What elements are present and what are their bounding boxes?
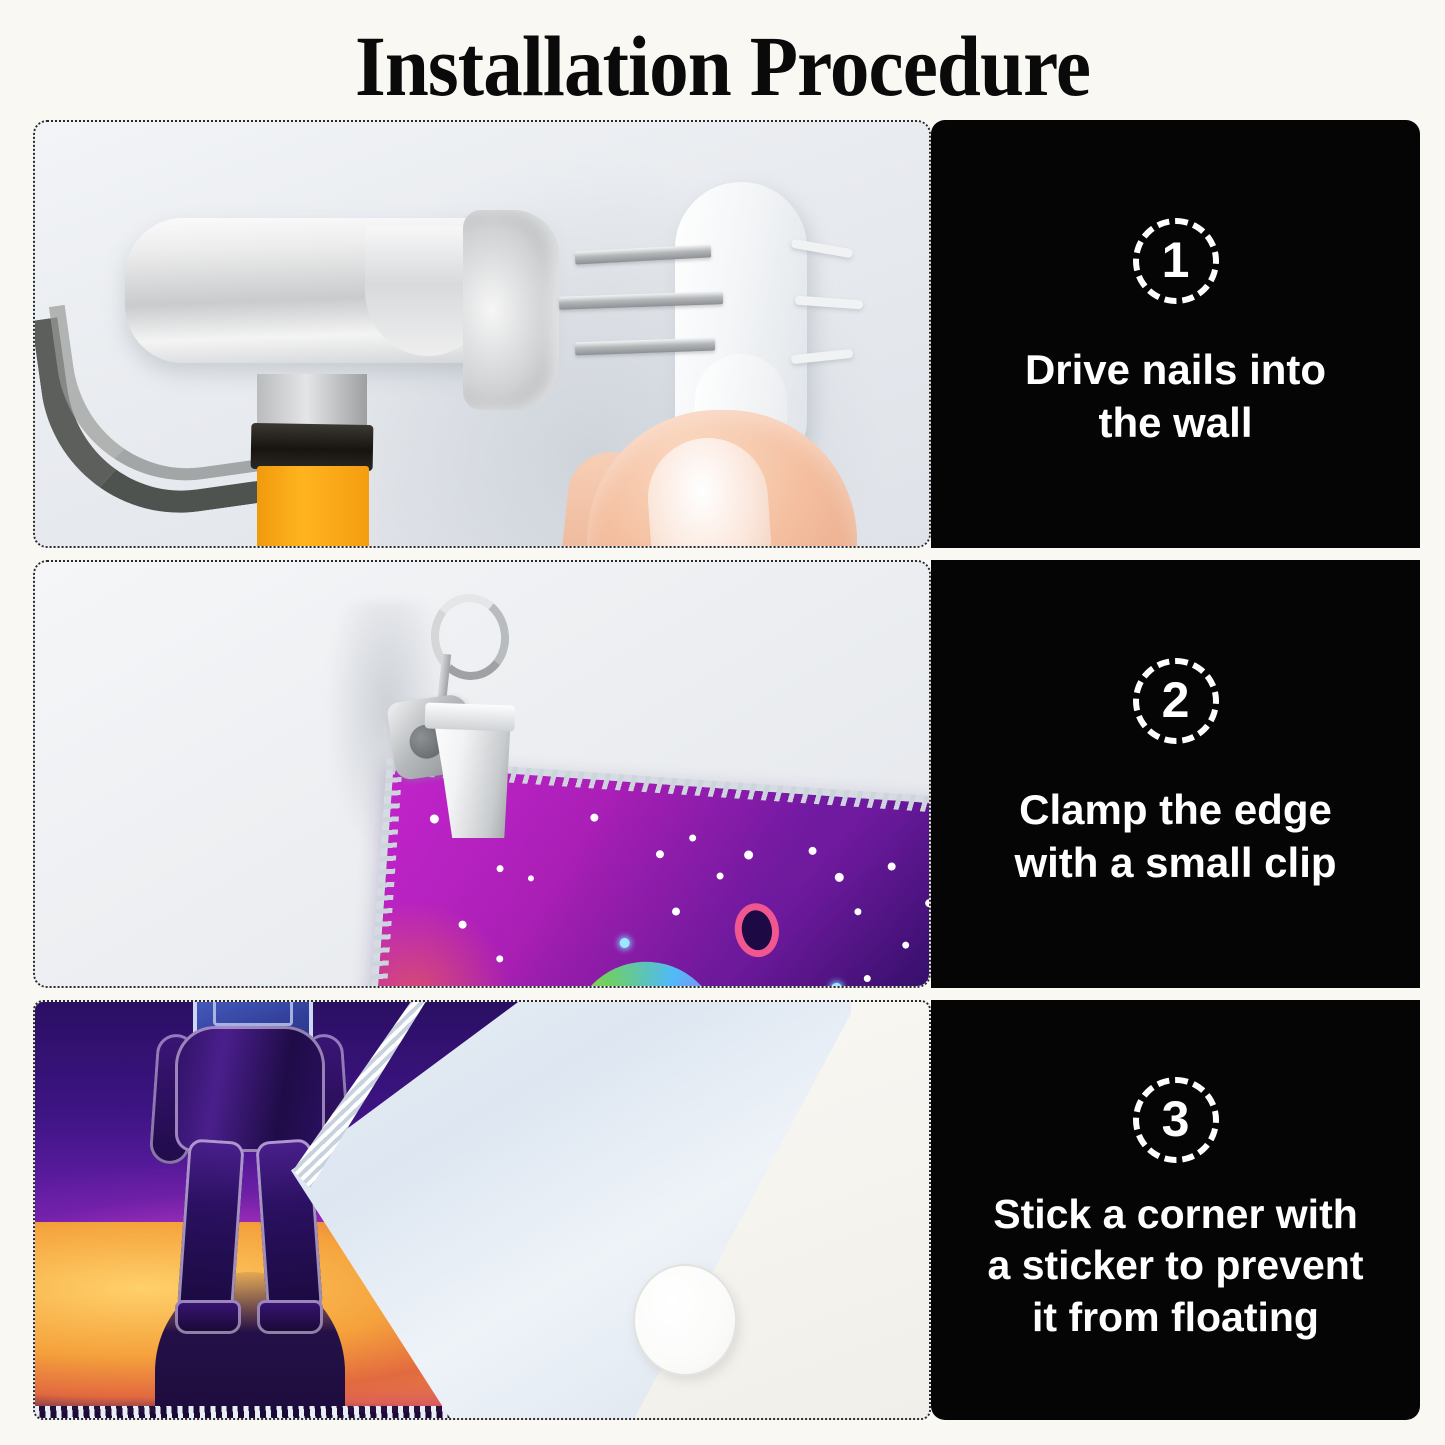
step-1-caption-line-2: the wall — [1025, 397, 1326, 450]
astronaut-boot-left — [175, 1300, 241, 1334]
step-2-caption-line-1: Clamp the edge — [1014, 784, 1336, 837]
step-1-photo — [33, 120, 931, 548]
step-3-photo — [33, 1000, 931, 1420]
step-1-caption: Drive nails into the wall — [1003, 344, 1348, 450]
step-3-caption: Stick a corner with a sticker to prevent… — [966, 1189, 1386, 1344]
step-2-caption-line-2: with a small clip — [1014, 837, 1336, 890]
star-bright — [619, 938, 630, 949]
star — [458, 920, 467, 929]
star — [689, 834, 696, 841]
step-1-note: 1 Drive nails into the wall — [931, 120, 1420, 548]
step-number-badge-2: 2 — [1133, 658, 1219, 744]
star — [716, 872, 723, 879]
step-number-1: 1 — [1162, 235, 1190, 285]
star — [808, 847, 817, 856]
adhesive-sticker — [633, 1264, 737, 1376]
step-row-1: 1 Drive nails into the wall — [33, 120, 1420, 548]
astronaut-leg-left — [177, 1138, 245, 1311]
step-2-note: 2 Clamp the edge with a small clip — [931, 560, 1420, 988]
step-1-caption-line-1: Drive nails into — [1025, 344, 1326, 397]
step-number-badge-3: 3 — [1133, 1077, 1219, 1163]
step-3-caption-line-1: Stick a corner with — [988, 1189, 1364, 1241]
star — [887, 862, 896, 871]
star — [528, 875, 534, 881]
step-number-badge-1: 1 — [1133, 218, 1219, 304]
star — [430, 814, 440, 824]
star — [834, 873, 844, 883]
astronaut-boot-right — [257, 1300, 323, 1334]
clip-jaw-top — [425, 702, 516, 731]
installation-procedure-infographic: Installation Procedure — [0, 0, 1445, 1445]
hammer-ferrule — [251, 423, 374, 471]
astronaut-torso — [175, 1026, 325, 1152]
star — [854, 908, 861, 915]
page-title: Installation Procedure — [58, 18, 1387, 114]
star — [496, 865, 503, 872]
star — [864, 975, 871, 982]
hammer-face — [463, 210, 559, 410]
star — [744, 850, 754, 860]
rainbow-planet — [566, 957, 726, 988]
star — [672, 907, 681, 916]
step-row-3: 3 Stick a corner with a sticker to preve… — [33, 1000, 1420, 1420]
hammer-handle — [257, 466, 369, 548]
star — [496, 955, 503, 962]
star-bright — [831, 983, 843, 988]
star — [590, 813, 599, 822]
step-3-caption-line-3: it from floating — [988, 1292, 1364, 1344]
star — [902, 941, 909, 948]
step-number-2: 2 — [1162, 675, 1190, 725]
step-3-caption-line-2: a sticker to prevent — [988, 1240, 1364, 1292]
step-2-photo — [33, 560, 931, 988]
step-number-3: 3 — [1162, 1094, 1190, 1144]
step-row-2: 2 Clamp the edge with a small clip — [33, 560, 1420, 988]
step-3-note: 3 Stick a corner with a sticker to preve… — [931, 1000, 1420, 1420]
ring-planet — [731, 900, 782, 960]
step-2-caption: Clamp the edge with a small clip — [992, 784, 1358, 890]
star — [656, 850, 665, 859]
